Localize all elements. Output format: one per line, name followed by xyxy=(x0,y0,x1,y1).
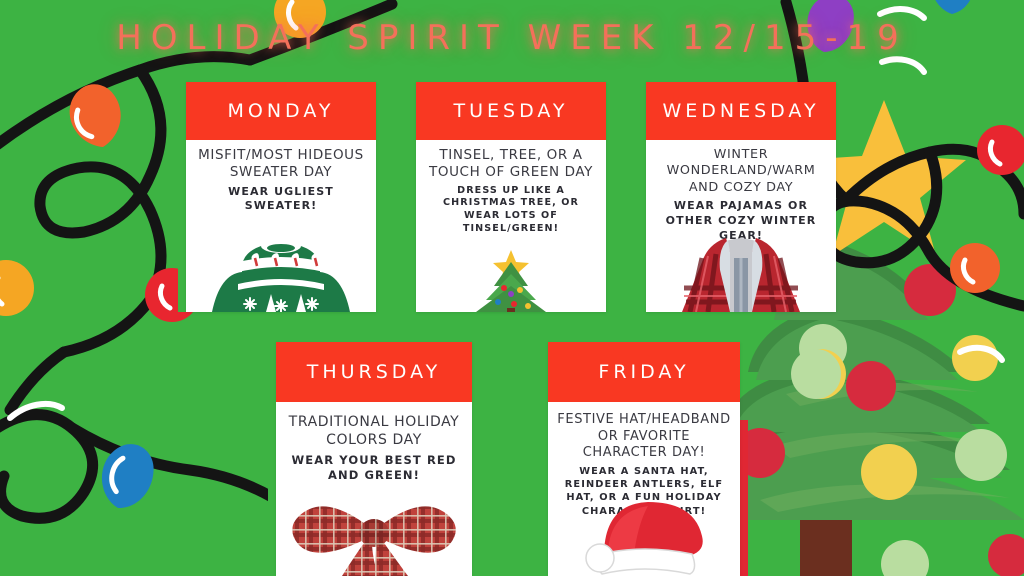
ornament xyxy=(861,444,917,500)
day-card-friday[interactable]: FRIDAY FESTIVE HAT/HEADBAND OR FAVORITE … xyxy=(548,342,740,576)
holiday-spirit-week-poster: HOLIDAY SPIRIT WEEK 12/15-19 MONDAY MISF… xyxy=(0,0,1024,576)
sparkle-swoosh xyxy=(10,404,62,418)
day-card-wednesday[interactable]: WEDNESDAY WINTER WONDERLAND/WARM AND COZ… xyxy=(646,82,836,312)
day-subline: WEAR YOUR BEST RED AND GREEN! xyxy=(284,453,464,484)
ornament xyxy=(952,335,998,381)
flannel-jacket-icon xyxy=(646,228,836,312)
day-headline: MISFIT/MOST HIDEOUS SWEATER DAY xyxy=(194,147,368,182)
day-card-monday[interactable]: MONDAY MISFIT/MOST HIDEOUS SWEATER DAY W… xyxy=(186,82,376,312)
day-subline: WEAR UGLIEST SWEATER! xyxy=(194,185,368,215)
sparkle-swoosh xyxy=(960,348,1002,360)
page-title: HOLIDAY SPIRIT WEEK 12/15-19 xyxy=(0,18,1024,58)
sparkle-swoosh xyxy=(882,59,924,72)
day-card-header: MONDAY xyxy=(186,82,376,140)
day-card-header: WEDNESDAY xyxy=(646,82,836,140)
ornament xyxy=(955,429,1007,481)
day-card-tuesday[interactable]: TUESDAY TINSEL, TREE, OR A TOUCH OF GREE… xyxy=(416,82,606,312)
ornament xyxy=(796,349,846,399)
day-card-header: TUESDAY xyxy=(416,82,606,140)
day-card-header: FRIDAY xyxy=(548,342,740,402)
light-bulb-blue xyxy=(98,440,157,512)
ornament xyxy=(791,349,841,399)
ugly-sweater-icon xyxy=(186,228,376,312)
day-headline: FESTIVE HAT/HEADBAND OR FAVORITE CHARACT… xyxy=(556,412,732,462)
ornament xyxy=(904,264,956,316)
ornament xyxy=(881,540,929,576)
day-headline: TRADITIONAL HOLIDAY COLORS DAY xyxy=(284,414,464,450)
day-headline: TINSEL, TREE, OR A TOUCH OF GREEN DAY xyxy=(424,147,598,182)
light-bulb-red-right xyxy=(977,125,1024,175)
ornament xyxy=(799,324,847,372)
day-card-thursday[interactable]: THURSDAY TRADITIONAL HOLIDAY COLORS DAY … xyxy=(276,342,472,576)
ornament xyxy=(988,534,1024,576)
light-bulb-orange-right xyxy=(950,243,1000,293)
day-card-header: THURSDAY xyxy=(276,342,472,402)
ornament xyxy=(846,361,896,411)
plaid-bow-icon xyxy=(276,486,472,576)
santa-hat-icon xyxy=(548,494,740,576)
sparkle-swoosh xyxy=(880,9,924,18)
light-bulb-amber-left xyxy=(0,260,34,316)
light-bulb-blue-top xyxy=(928,0,978,16)
christmas-tree-icon xyxy=(416,228,606,312)
light-bulb-orange xyxy=(60,77,132,155)
day-headline: WINTER WONDERLAND/WARM AND COZY DAY xyxy=(654,147,828,196)
